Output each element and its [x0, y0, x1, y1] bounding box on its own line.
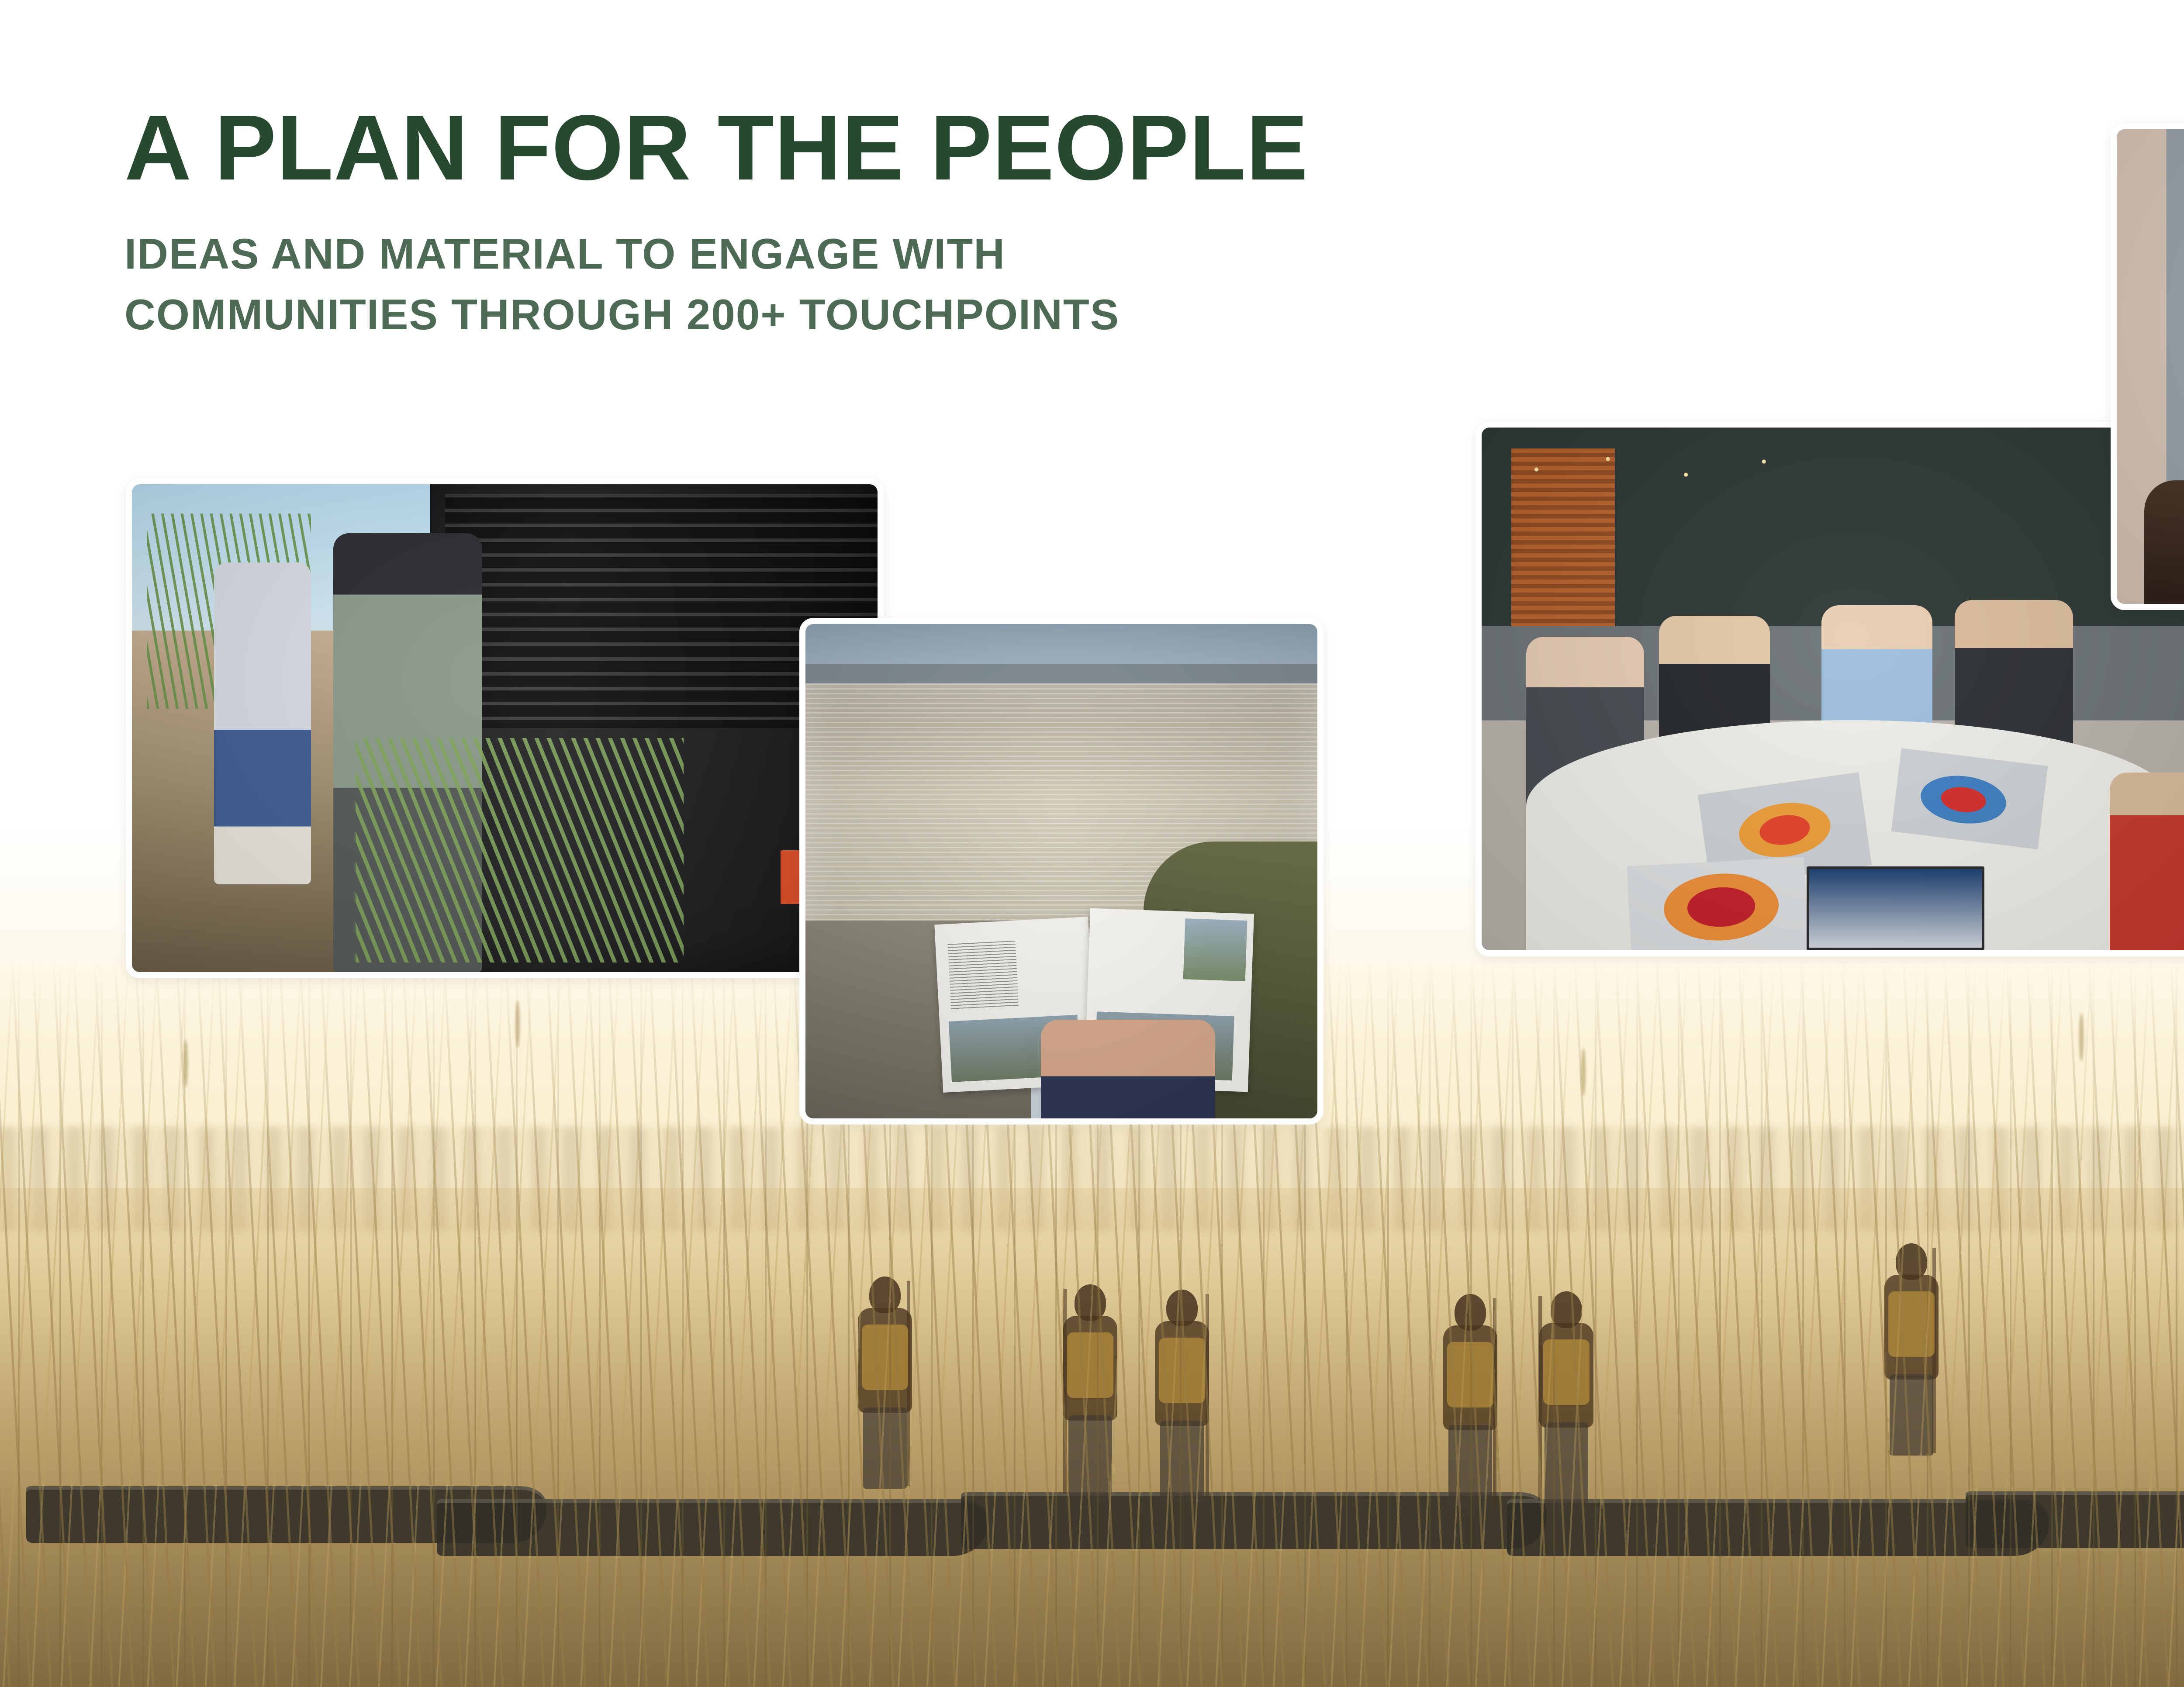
hand-holding-booklet	[1041, 1020, 1215, 1118]
coastal-map-handout	[1627, 857, 1809, 950]
subtitle-line-2: COMMUNITIES THROUGH 200+ TOUCHPOINTS	[124, 284, 1391, 345]
coastal-map-handout	[1891, 748, 2048, 849]
page-subtitle: IDEAS AND MATERIAL TO ENGAGE WITH COMMUN…	[124, 224, 1391, 345]
headline-block: A PLAN FOR THE PEOPLE IDEAS AND MATERIAL…	[124, 100, 1610, 345]
photo-master-plan-booklet	[799, 618, 1324, 1125]
workshop-participant	[2110, 773, 2184, 950]
poster-canvas: A PLAN FOR THE PEOPLE IDEAS AND MATERIAL…	[0, 0, 2184, 1687]
page-title: A PLAN FOR THE PEOPLE	[124, 100, 1610, 195]
attendee-figure	[2144, 480, 2184, 604]
subtitle-line-1: IDEAS AND MATERIAL TO ENGAGE WITH	[124, 224, 1391, 284]
photo-table-discussions: TABLE DISCUSSIONS	[2111, 123, 2184, 610]
laptop	[1807, 866, 1984, 950]
photo-planting-crew	[126, 478, 884, 978]
worker-figure	[214, 562, 311, 884]
photo-community-workshop	[1476, 421, 2184, 956]
